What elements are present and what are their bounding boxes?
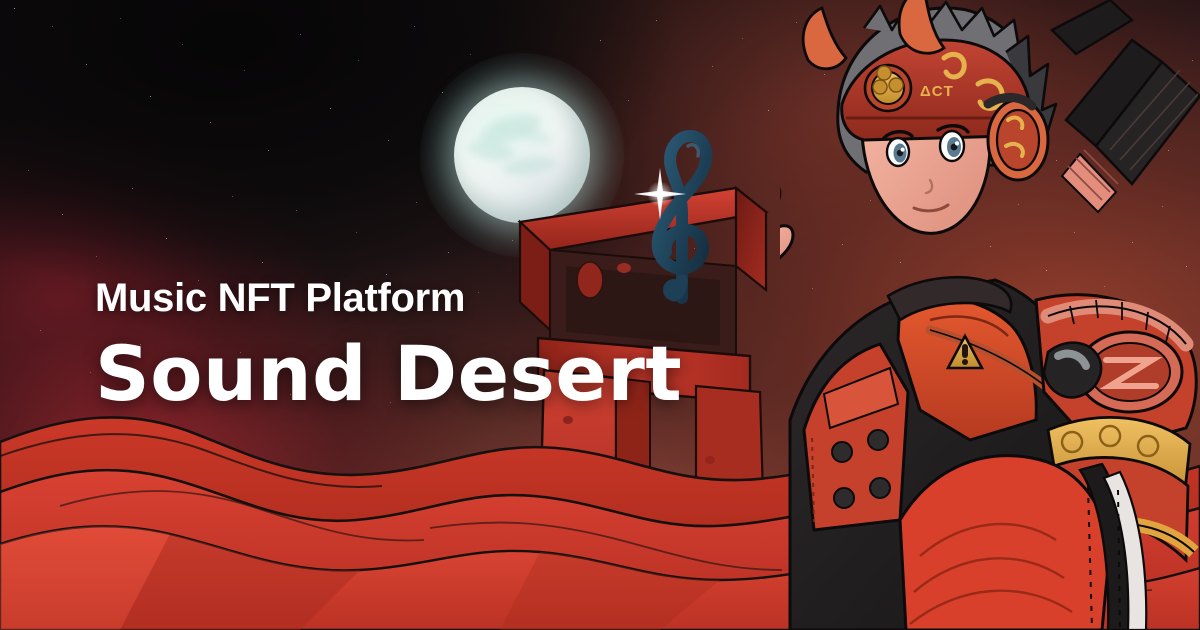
hero-title: Sound Desert (95, 336, 682, 412)
svg-text:ΔCT: ΔCT (920, 83, 954, 100)
reaching-hand (780, 150, 793, 323)
hero-copy: Music NFT Platform Sound Desert (95, 278, 682, 412)
hero-banner: ΔCT (0, 0, 1200, 630)
headphone-icon (988, 97, 1048, 180)
guitar-neck (1052, 0, 1200, 212)
character-head: ΔCT (803, 0, 1056, 233)
sleeve-arm (900, 456, 1146, 630)
hero-eyebrow: Music NFT Platform (95, 278, 682, 318)
anime-musician-character: ΔCT (780, 0, 1200, 630)
